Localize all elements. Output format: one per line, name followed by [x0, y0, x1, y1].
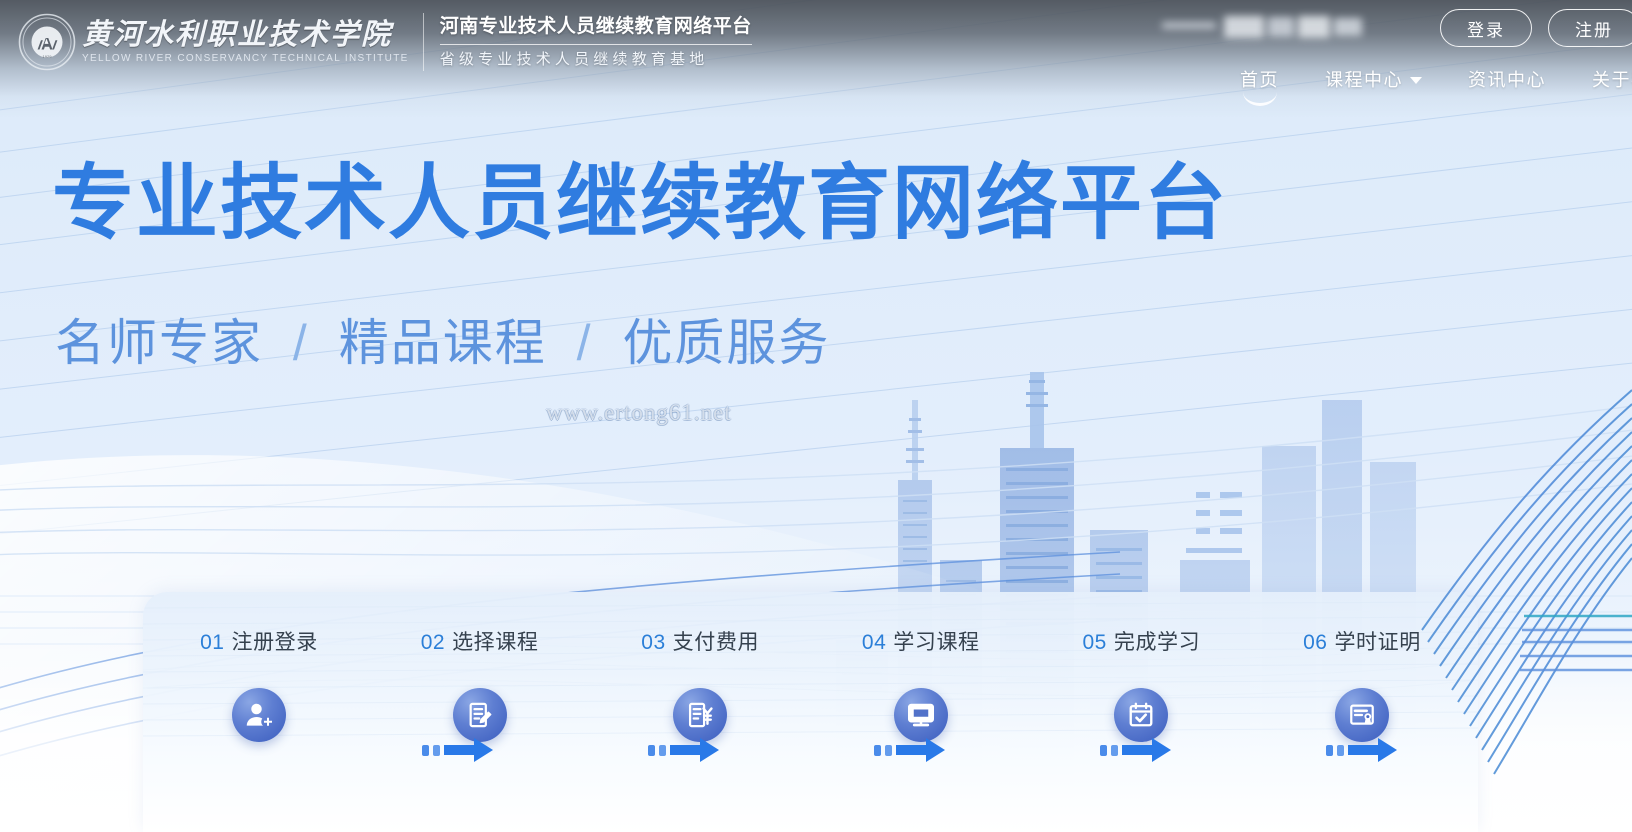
nav-label-about-us: 关于我们	[1592, 66, 1632, 92]
monitor-icon	[894, 688, 948, 742]
step-connector-5	[1326, 737, 1400, 763]
platform-subtitle: 省级专业技术人员继续教育基地	[440, 51, 752, 69]
step-number-1: 01	[200, 631, 224, 654]
main-navigation: 首页 课程中心 资讯中心 关于我们	[1240, 66, 1632, 104]
platform-title-rule	[440, 44, 752, 45]
connector-dot	[1337, 745, 1344, 756]
step-number-3: 03	[641, 631, 665, 654]
arrow-right-icon	[1122, 737, 1172, 763]
connector-dot	[1326, 745, 1333, 756]
platform-title: 河南专业技术人员继续教育网络平台	[440, 15, 752, 40]
connector-dot	[1111, 745, 1118, 756]
hero-subtitle: 名师专家 / 精品课程 / 优质服务	[55, 303, 830, 375]
step-connector-3	[874, 737, 948, 763]
nav-item-about-us[interactable]: 关于我们	[1592, 66, 1632, 104]
nav-item-course-center[interactable]: 课程中心	[1325, 66, 1422, 104]
step-text-4: 学习课程	[893, 631, 979, 654]
institute-name-cn: 黄河水利职业技术学院	[82, 20, 409, 50]
arrow-right-icon	[1348, 737, 1398, 763]
step-number-4: 04	[862, 631, 886, 654]
brand-divider	[423, 13, 424, 71]
step-label-1: 01注册登录	[173, 626, 345, 656]
step-number-2: 02	[421, 631, 445, 654]
brand-institute-text: 黄河水利职业技术学院 YELLOW RIVER CONSERVANCY TECH…	[82, 20, 409, 64]
auth-buttons: 登录 注册	[1440, 9, 1632, 47]
nav-label-news-center: 资讯中心	[1468, 66, 1546, 92]
process-steps-panel: 01注册登录 02选择课程	[143, 592, 1478, 832]
platform-title-block: 河南专业技术人员继续教育网络平台 省级专业技术人员继续教育基地	[440, 15, 752, 70]
payment-document-icon	[673, 688, 727, 742]
connector-dot	[433, 745, 440, 756]
step-label-2: 02选择课程	[394, 626, 566, 656]
nav-item-home[interactable]: 首页	[1240, 66, 1279, 104]
chevron-down-icon	[1410, 77, 1422, 84]
step-text-2: 选择课程	[452, 631, 538, 654]
connector-dot	[659, 745, 666, 756]
step-text-1: 注册登录	[231, 631, 317, 654]
hero-subtitle-separator-1: /	[293, 315, 309, 371]
arrow-right-icon	[444, 737, 494, 763]
step-text-6: 学时证明	[1334, 631, 1420, 654]
site-header: 1929 黄河水利职业技术学院 YELLOW RIVER CONSERVANCY…	[0, 0, 1632, 118]
svg-text:1929: 1929	[43, 54, 53, 59]
connector-dot	[422, 745, 429, 756]
brand-lockup[interactable]: 1929 黄河水利职业技术学院 YELLOW RIVER CONSERVANCY…	[18, 6, 752, 78]
login-button[interactable]: 登录	[1440, 9, 1532, 47]
hero-subtitle-part-1: 名师专家	[55, 315, 263, 371]
step-connector-4	[1100, 737, 1174, 763]
step-label-6: 06学时证明	[1276, 626, 1448, 656]
step-label-4: 04学习课程	[835, 626, 1007, 656]
redacted-contact-region	[1158, 10, 1366, 46]
connector-dot	[874, 745, 881, 756]
step-connector-2	[648, 737, 722, 763]
user-add-icon	[232, 688, 286, 742]
arrow-right-icon	[896, 737, 946, 763]
document-edit-icon	[453, 688, 507, 742]
step-text-5: 完成学习	[1114, 631, 1200, 654]
hero-subtitle-part-2: 精品课程	[339, 315, 547, 371]
step-item-1[interactable]: 01注册登录	[173, 592, 345, 742]
step-label-3: 03支付费用	[614, 626, 786, 656]
hero-title: 专业技术人员继续教育网络平台	[52, 158, 1228, 250]
step-item-5[interactable]: 05完成学习	[1055, 592, 1227, 742]
circular-seal-emblem: 1929	[18, 13, 76, 71]
connector-dot	[885, 745, 892, 756]
step-item-6[interactable]: 06学时证明	[1276, 592, 1448, 742]
watermark-text: www.ertong61.net	[546, 400, 732, 426]
step-text-3: 支付费用	[673, 631, 759, 654]
steps-row: 01注册登录 02选择课程	[143, 592, 1478, 832]
hero-subtitle-part-3: 优质服务	[622, 315, 830, 371]
nav-active-indicator	[1243, 92, 1277, 106]
register-button[interactable]: 注册	[1548, 9, 1632, 47]
step-label-5: 05完成学习	[1055, 626, 1227, 656]
step-item-3[interactable]: 03支付费用	[614, 592, 786, 742]
step-number-5: 05	[1082, 631, 1106, 654]
institute-name-en: YELLOW RIVER CONSERVANCY TECHNICAL INSTI…	[82, 53, 409, 64]
nav-label-course-center: 课程中心	[1325, 66, 1403, 92]
connector-dot	[1100, 745, 1107, 756]
step-item-2[interactable]: 02选择课程	[394, 592, 566, 742]
arrow-right-icon	[670, 737, 720, 763]
nav-item-news-center[interactable]: 资讯中心	[1468, 66, 1546, 104]
step-connector-1	[422, 737, 496, 763]
step-item-4[interactable]: 04学习课程	[835, 592, 1007, 742]
step-number-6: 06	[1303, 631, 1327, 654]
nav-label-home: 首页	[1240, 66, 1279, 92]
hero-subtitle-separator-2: /	[577, 315, 593, 371]
calendar-check-icon	[1114, 688, 1168, 742]
connector-dot	[648, 745, 655, 756]
certificate-icon	[1335, 688, 1389, 742]
